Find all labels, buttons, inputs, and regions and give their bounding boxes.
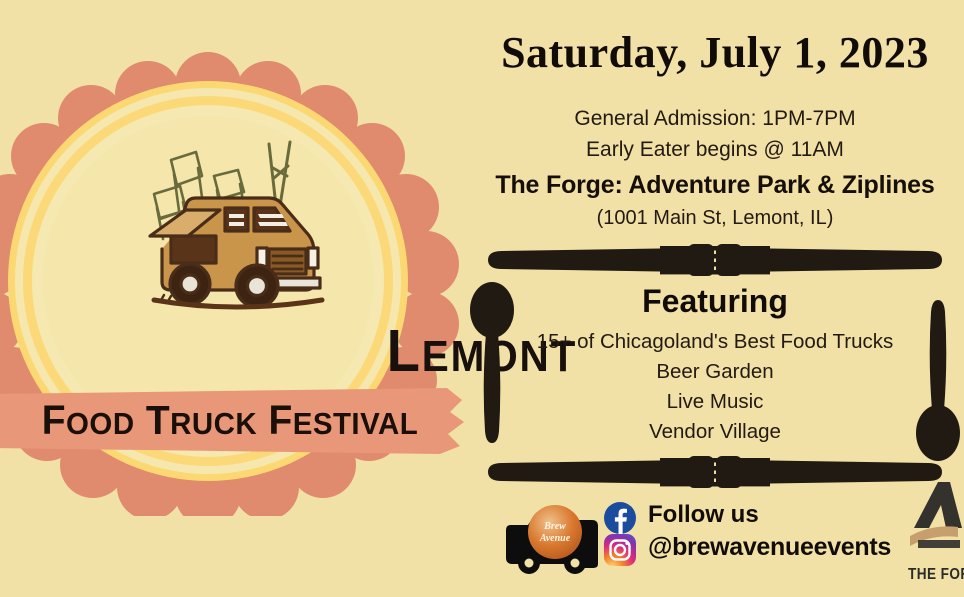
social-handle[interactable]: @brewavenueevents <box>648 535 891 560</box>
fork-top-right-icon <box>660 244 942 276</box>
the-forge-logo-text: THE FORGE <box>908 566 964 584</box>
facebook-icon[interactable] <box>604 502 636 534</box>
ribbon-word-1-cap: F <box>42 397 66 443</box>
ribbon-word-3-rest: ESTIVAL <box>293 406 419 441</box>
follow-us-label: Follow us <box>648 503 759 527</box>
fork-bottom-left-icon <box>488 456 770 488</box>
event-date: Saturday, July 1, 2023 <box>466 31 964 75</box>
early-eater-text: Early Eater begins @ 11AM <box>466 139 964 160</box>
brew-avenue-truck-icon[interactable]: Brew Avenue <box>504 496 600 576</box>
ribbon-word-1-rest: OOD <box>66 406 135 441</box>
ribbon-word-2-rest: RUCK <box>170 406 257 441</box>
food-truck-festival-poster: LEMONT FOOD TRUCK FESTIVAL Saturday, Jul… <box>0 0 964 597</box>
the-forge-logo-icon <box>900 478 964 564</box>
venue-address: (1001 Main St, Lemont, IL) <box>466 208 964 228</box>
instagram-icon[interactable] <box>604 534 636 566</box>
ribbon-word-3-cap: F <box>268 397 292 443</box>
fork-top-left-icon <box>488 244 770 276</box>
featuring-item: Vendor Village <box>466 417 964 447</box>
ribbon-word-2-cap: T <box>146 397 170 443</box>
featuring-item: 15+ of Chicagoland's Best Food Trucks <box>466 327 964 357</box>
featuring-item: Live Music <box>466 387 964 417</box>
general-admission-text: General Admission: 1PM-7PM <box>466 108 964 129</box>
svg-text:Avenue: Avenue <box>539 533 571 544</box>
featuring-list: 15+ of Chicagoland's Best Food Trucks Be… <box>466 327 964 447</box>
food-truck-icon <box>130 132 335 317</box>
svg-text:Brew: Brew <box>543 521 566 532</box>
venue-name: The Forge: Adventure Park & Ziplines <box>466 173 964 198</box>
featuring-item: Beer Garden <box>466 357 964 387</box>
festival-ribbon-text: FOOD TRUCK FESTIVAL <box>12 400 449 441</box>
city-wordmark-cap: L <box>387 318 422 384</box>
featuring-title: Featuring <box>466 285 964 317</box>
